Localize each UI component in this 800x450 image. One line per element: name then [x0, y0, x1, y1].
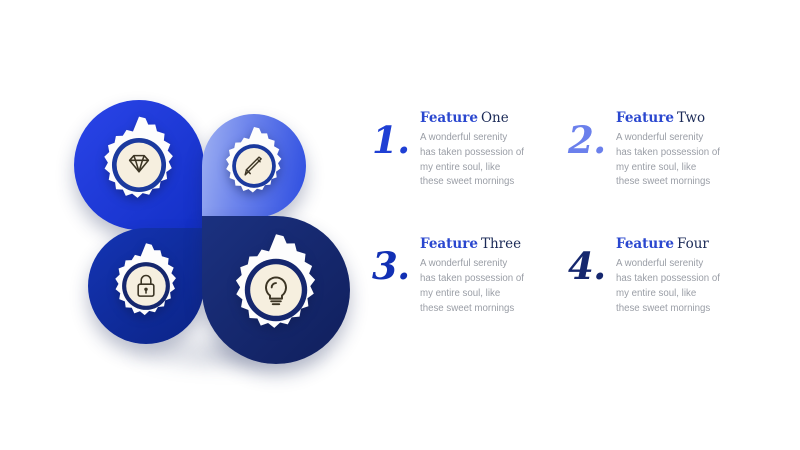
feature-4-text: FeatureFour A wonderful serenity has tak… — [616, 234, 720, 316]
slide-canvas: 1. FeatureOne A wonderful serenity has t… — [0, 0, 800, 450]
petal-3-lock[interactable] — [88, 228, 204, 344]
feature-3-number: 3. — [372, 234, 420, 285]
feature-2-title-word-1: Feature — [616, 110, 674, 126]
feature-1-body: A wonderful serenity has taken possessio… — [420, 131, 524, 190]
petal-4-gear — [202, 216, 350, 364]
gear-icon — [100, 240, 192, 332]
feature-row-2: 3. FeatureThree A wonderful serenity has… — [372, 234, 764, 316]
petal-cluster — [66, 86, 356, 356]
feature-4-title-word-1: Feature — [616, 236, 674, 252]
feature-3-title: FeatureThree — [420, 236, 524, 252]
feature-row-1: 1. FeatureOne A wonderful serenity has t… — [372, 108, 764, 190]
feature-1-number: 1. — [372, 108, 420, 159]
feature-2-title-word-2: Two — [677, 110, 705, 126]
feature-grid: 1. FeatureOne A wonderful serenity has t… — [372, 108, 764, 316]
feature-item-4[interactable]: 4. FeatureFour A wonderful serenity has … — [568, 234, 764, 316]
gear-icon — [216, 230, 336, 350]
gear-pinwheel-graphic — [66, 86, 356, 356]
gear-icon — [212, 124, 296, 208]
feature-item-1[interactable]: 1. FeatureOne A wonderful serenity has t… — [372, 108, 568, 190]
petal-1-diamond[interactable] — [74, 100, 204, 230]
petal-2-gear — [202, 114, 306, 218]
petal-2-pencil[interactable] — [202, 114, 306, 218]
feature-1-title: FeatureOne — [420, 110, 524, 126]
feature-1-title-word-1: Feature — [420, 110, 478, 126]
feature-4-number: 4. — [568, 234, 616, 285]
feature-item-2[interactable]: 2. FeatureTwo A wonderful serenity has t… — [568, 108, 764, 190]
feature-2-text: FeatureTwo A wonderful serenity has take… — [616, 108, 720, 190]
feature-1-text: FeatureOne A wonderful serenity has take… — [420, 108, 524, 190]
feature-2-title: FeatureTwo — [616, 110, 720, 126]
feature-3-body: A wonderful serenity has taken possessio… — [420, 257, 524, 316]
feature-3-title-word-2: Three — [481, 236, 521, 252]
feature-4-title-word-2: Four — [677, 236, 709, 252]
feature-4-body: A wonderful serenity has taken possessio… — [616, 257, 720, 316]
petal-1-gear — [74, 100, 204, 230]
petal-3-gear — [88, 228, 204, 344]
feature-2-number: 2. — [568, 108, 616, 159]
petal-4-lightbulb[interactable] — [202, 216, 350, 364]
feature-4-title: FeatureFour — [616, 236, 720, 252]
feature-2-body: A wonderful serenity has taken possessio… — [616, 131, 720, 190]
feature-3-title-word-1: Feature — [420, 236, 478, 252]
feature-3-text: FeatureThree A wonderful serenity has ta… — [420, 234, 524, 316]
feature-1-title-word-2: One — [481, 110, 509, 126]
gear-icon — [87, 113, 191, 217]
feature-item-3[interactable]: 3. FeatureThree A wonderful serenity has… — [372, 234, 568, 316]
